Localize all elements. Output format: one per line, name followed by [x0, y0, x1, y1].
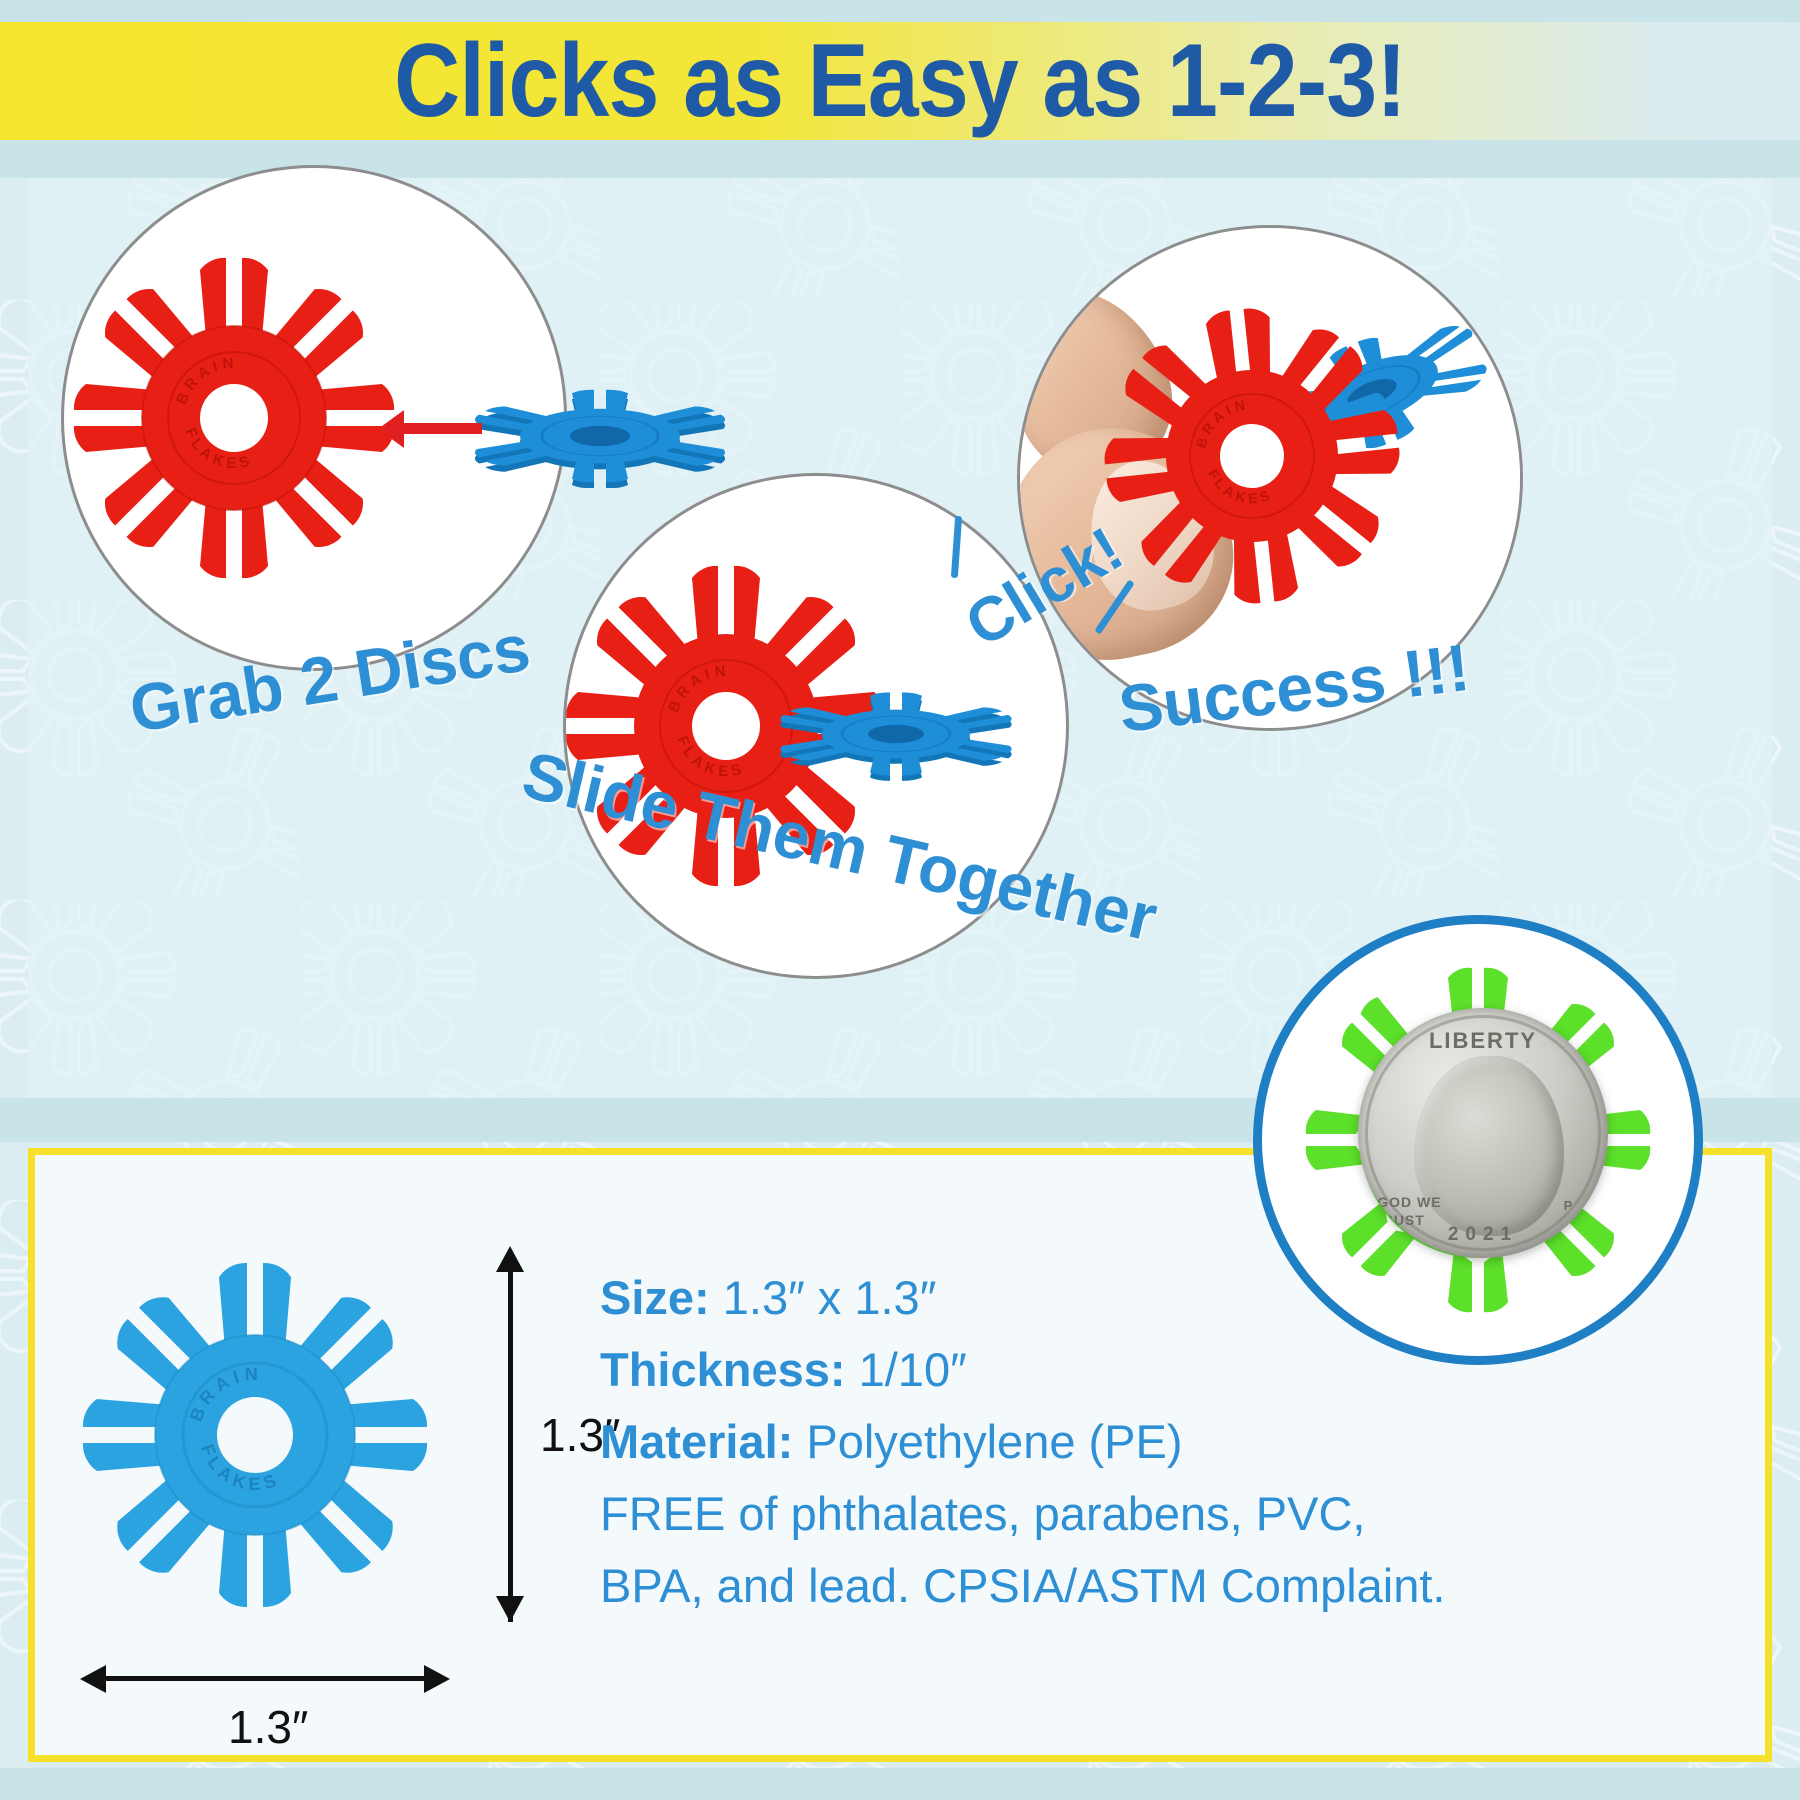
width-arrow-right-icon: [424, 1665, 450, 1693]
page-title: Clicks as Easy as 1-2-3!: [108, 22, 1692, 140]
spec-label-size: Size:: [600, 1271, 710, 1324]
spec-free-of-line-2: BPA, and lead. CPSIA/ASTM Complaint.: [600, 1550, 1446, 1622]
step-1-arrow-shaft: [402, 423, 482, 434]
spec-value-size: 1.3″ x 1.3″: [723, 1271, 937, 1324]
spec-label-material: Material:: [600, 1415, 793, 1468]
spec-free-of-line-1: FREE of phthalates, parabens, PVC,: [600, 1478, 1446, 1550]
height-dimension-line: [508, 1262, 513, 1622]
us-quarter-coin: LIBERTY IN GOD WE TRUST 2021 P: [1358, 1008, 1608, 1258]
coin-liberty-text: LIBERTY: [1358, 1028, 1608, 1054]
step-1-arrow-head-icon: [378, 410, 404, 448]
infographic-canvas: Clicks as Easy as 1-2-3!: [0, 0, 1800, 1800]
spec-label-thickness: Thickness:: [600, 1343, 846, 1396]
product-disc-blue: BRAIN FLAKES: [55, 1235, 455, 1640]
coin-mint-mark: P: [1444, 1198, 1608, 1213]
spec-value-thickness: 1/10″: [859, 1343, 967, 1396]
height-arrow-down-icon: [496, 1596, 524, 1622]
specs-text-block: Size: 1.3″ x 1.3″ Thickness: 1/10″ Mater…: [600, 1262, 1446, 1622]
header-banner: Clicks as Easy as 1-2-3!: [0, 22, 1800, 140]
coin-year: 2021: [1358, 1224, 1608, 1246]
width-dimension-line: [98, 1676, 430, 1681]
spec-row-size: Size: 1.3″ x 1.3″: [600, 1262, 1446, 1334]
step-1-blue-disc: [455, 378, 745, 493]
spec-row-material: Material: Polyethylene (PE): [600, 1406, 1446, 1478]
height-arrow-up-icon: [496, 1246, 524, 1272]
spec-row-thickness: Thickness: 1/10″: [600, 1334, 1446, 1406]
spec-value-material: Polyethylene (PE): [806, 1415, 1182, 1468]
width-dimension-label: 1.3″: [228, 1700, 308, 1754]
width-arrow-left-icon: [80, 1665, 106, 1693]
